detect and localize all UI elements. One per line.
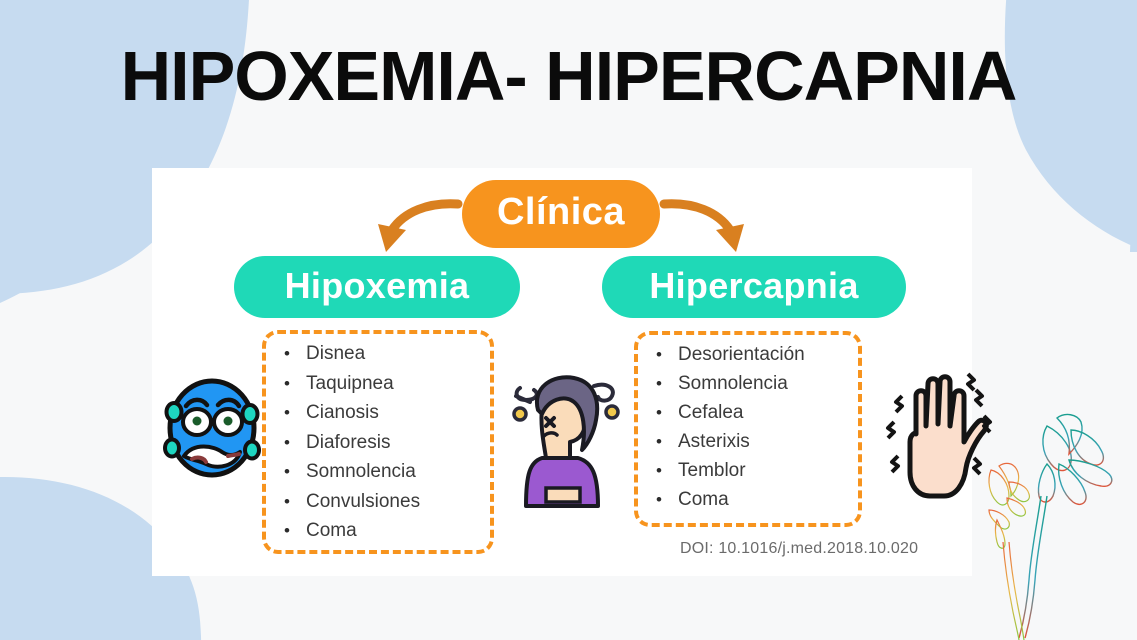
- list-item: •Somnolencia: [656, 374, 858, 393]
- bullet-icon: •: [284, 522, 306, 539]
- symptom-text: Coma: [678, 490, 729, 509]
- bullet-icon: •: [656, 375, 678, 392]
- list-item: •Cianosis: [284, 403, 490, 422]
- symptom-text: Coma: [306, 521, 357, 540]
- symptom-text: Desorientación: [678, 345, 805, 364]
- symptom-text: Asterixis: [678, 432, 750, 451]
- bullet-icon: •: [656, 346, 678, 363]
- bullet-icon: •: [284, 375, 306, 392]
- node-hipercapnia-label: Hipercapnia: [649, 268, 858, 307]
- node-hipoxemia[interactable]: Hipoxemia: [234, 256, 520, 318]
- bullet-icon: •: [284, 463, 306, 480]
- list-item: •Taquipnea: [284, 374, 490, 393]
- symptom-text: Cianosis: [306, 403, 379, 422]
- trembling-hand-icon: [882, 360, 998, 504]
- bullet-icon: •: [656, 433, 678, 450]
- list-item: •Cefalea: [656, 403, 858, 422]
- bullet-icon: •: [284, 345, 306, 362]
- list-item: •Somnolencia: [284, 462, 490, 481]
- doi-citation: DOI: 10.1016/j.med.2018.10.020: [680, 540, 918, 558]
- list-item: •Disnea: [284, 344, 490, 363]
- node-hipoxemia-label: Hipoxemia: [285, 268, 470, 307]
- symptom-list-hipercapnia: •Desorientación •Somnolencia •Cefalea •A…: [638, 335, 858, 509]
- symptom-box-hipercapnia: •Desorientación •Somnolencia •Cefalea •A…: [634, 331, 862, 527]
- symptom-text: Diaforesis: [306, 433, 390, 452]
- list-item: •Convulsiones: [284, 492, 490, 511]
- symptom-text: Taquipnea: [306, 374, 394, 393]
- blue-anxious-face-icon: [160, 364, 264, 488]
- node-hipercapnia[interactable]: Hipercapnia: [602, 256, 906, 318]
- node-clinica[interactable]: Clínica: [462, 180, 660, 248]
- arrow-right-icon: [664, 204, 744, 252]
- symptom-list-hipoxemia: •Disnea •Taquipnea •Cianosis •Diaforesis…: [266, 334, 490, 540]
- bullet-icon: •: [656, 404, 678, 421]
- bullet-icon: •: [284, 404, 306, 421]
- list-item: •Temblor: [656, 461, 858, 480]
- symptom-box-hipoxemia: •Disnea •Taquipnea •Cianosis •Diaforesis…: [262, 330, 494, 554]
- list-item: •Asterixis: [656, 432, 858, 451]
- symptom-text: Somnolencia: [678, 374, 788, 393]
- symptom-text: Cefalea: [678, 403, 744, 422]
- symptom-text: Somnolencia: [306, 462, 416, 481]
- diagram-card: Clínica Hipoxemia Hipercapnia •Disnea •T…: [152, 168, 972, 576]
- bullet-icon: •: [656, 462, 678, 479]
- bullet-icon: •: [284, 493, 306, 510]
- node-clinica-label: Clínica: [497, 193, 625, 235]
- bullet-icon: •: [656, 491, 678, 508]
- list-item: •Coma: [284, 521, 490, 540]
- bullet-icon: •: [284, 434, 306, 451]
- list-item: •Desorientación: [656, 345, 858, 364]
- list-item: •Diaforesis: [284, 433, 490, 452]
- arrow-left-icon: [378, 204, 458, 252]
- list-item: •Coma: [656, 490, 858, 509]
- symptom-text: Convulsiones: [306, 492, 420, 511]
- symptom-text: Temblor: [678, 461, 746, 480]
- dizzy-person-icon: [512, 362, 626, 510]
- page-title: HIPOXEMIA- HIPERCAPNIA: [0, 36, 1137, 116]
- symptom-text: Disnea: [306, 344, 365, 363]
